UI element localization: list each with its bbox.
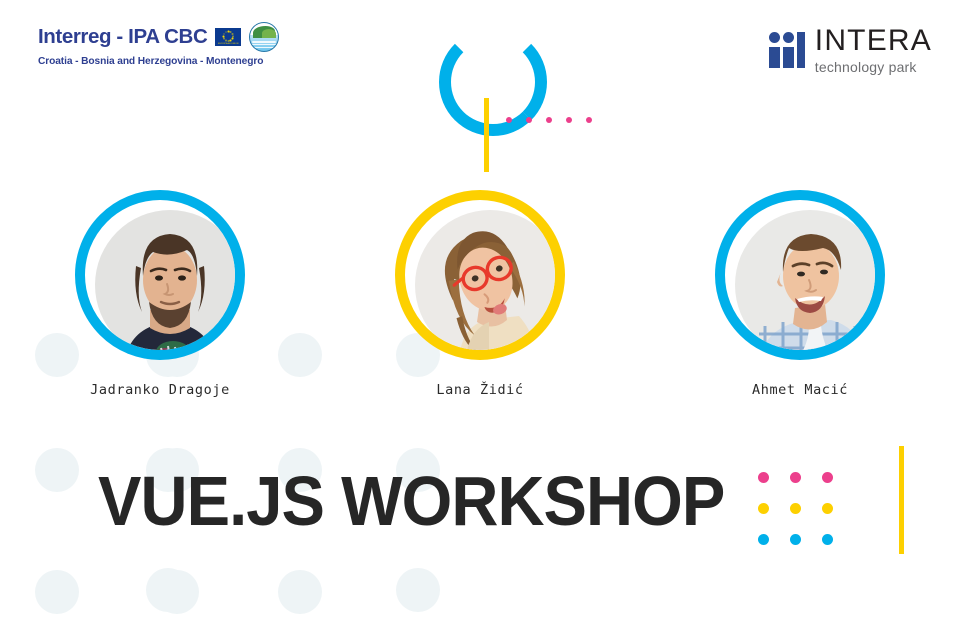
grid-dot [790, 534, 801, 545]
eu-flag-caption: EUROPEAN UNION [215, 43, 241, 45]
speaker-card: Ahmet Macić [640, 190, 960, 398]
grid-dot [790, 472, 801, 483]
eu-star [223, 33, 225, 35]
grid-dot [790, 503, 801, 514]
eu-flag-stars [222, 30, 235, 43]
speaker-name: Jadranko Dragoje [90, 382, 230, 398]
pink-dot [546, 117, 552, 123]
yellow-vertical-line [484, 98, 489, 172]
portrait-illustration [735, 210, 885, 360]
eu-star [223, 35, 225, 37]
intera-logo: INTERA technology park [769, 26, 932, 74]
grid-dot [822, 472, 833, 483]
background-circle [35, 570, 79, 614]
eu-star [232, 38, 234, 40]
interreg-logo: Interreg - IPA CBC EUROPEAN UNION Croati… [38, 22, 279, 67]
intera-mark-icon [769, 32, 805, 68]
eu-flag-icon: EUROPEAN UNION [215, 28, 241, 46]
speaker-photo [415, 210, 565, 360]
eu-star [232, 33, 234, 35]
page-title: VUE.JS WORKSHOP [98, 466, 724, 536]
emblem-wave-1 [252, 41, 276, 42]
pink-dot [586, 117, 592, 123]
pink-dot [506, 117, 512, 123]
intera-mark-bar-left [769, 47, 780, 68]
poster-canvas: Interreg - IPA CBC EUROPEAN UNION Croati… [0, 0, 960, 640]
speaker-photo [95, 210, 245, 360]
emblem-wave-2 [252, 44, 276, 45]
eu-star [228, 31, 230, 33]
intera-name: INTERA [815, 26, 932, 56]
emblem-hill-front [262, 29, 276, 38]
decorative-dot-grid [758, 472, 854, 565]
background-circle [155, 570, 199, 614]
pink-dot-row [506, 117, 592, 123]
avatar-jadranko-dragoje[interactable] [75, 190, 245, 360]
portrait-illustration [415, 210, 565, 360]
speaker-name: Lana Židić [436, 382, 523, 398]
eu-star [230, 40, 232, 42]
background-circle [396, 568, 440, 612]
grid-dot [822, 503, 833, 514]
eu-star [232, 35, 234, 37]
grid-dot [758, 503, 769, 514]
eu-star [223, 38, 225, 40]
interreg-title: Interreg - IPA CBC [38, 27, 207, 48]
avatar-lana-dzidic[interactable] [395, 190, 565, 360]
pink-dot [526, 117, 532, 123]
interreg-subtitle: Croatia - Bosnia and Herzegovina - Monte… [38, 56, 263, 67]
speaker-card: Jadranko Dragoje [0, 190, 320, 398]
eu-star [228, 40, 230, 42]
programme-emblem-icon [249, 22, 279, 52]
emblem-wave-3 [252, 47, 276, 48]
background-circle [146, 568, 190, 612]
intera-mark-dot-left [769, 32, 780, 43]
portrait-illustration [95, 210, 245, 360]
pink-dot [566, 117, 572, 123]
eu-star [225, 31, 227, 33]
intera-tagline: technology park [815, 60, 932, 74]
intera-mark-bar-middle [783, 47, 794, 68]
avatar-ahmet-macic[interactable] [715, 190, 885, 360]
intera-wordmark: INTERA technology park [815, 26, 932, 74]
background-circle [35, 448, 79, 492]
intera-mark-bar-tall [797, 32, 805, 68]
grid-dot [758, 534, 769, 545]
speaker-card: Lana Židić [320, 190, 640, 398]
intera-mark-dot-right [783, 32, 794, 43]
interreg-logo-row: Interreg - IPA CBC EUROPEAN UNION [38, 22, 279, 52]
eu-star [225, 40, 227, 42]
yellow-vertical-bar [899, 446, 904, 554]
top-decoration [424, 20, 574, 160]
speaker-photo [735, 210, 885, 360]
grid-dot [822, 534, 833, 545]
background-circle [278, 570, 322, 614]
speaker-name: Ahmet Macić [752, 382, 848, 398]
speakers-row: Jadranko Dragoje [0, 190, 960, 398]
grid-dot [758, 472, 769, 483]
